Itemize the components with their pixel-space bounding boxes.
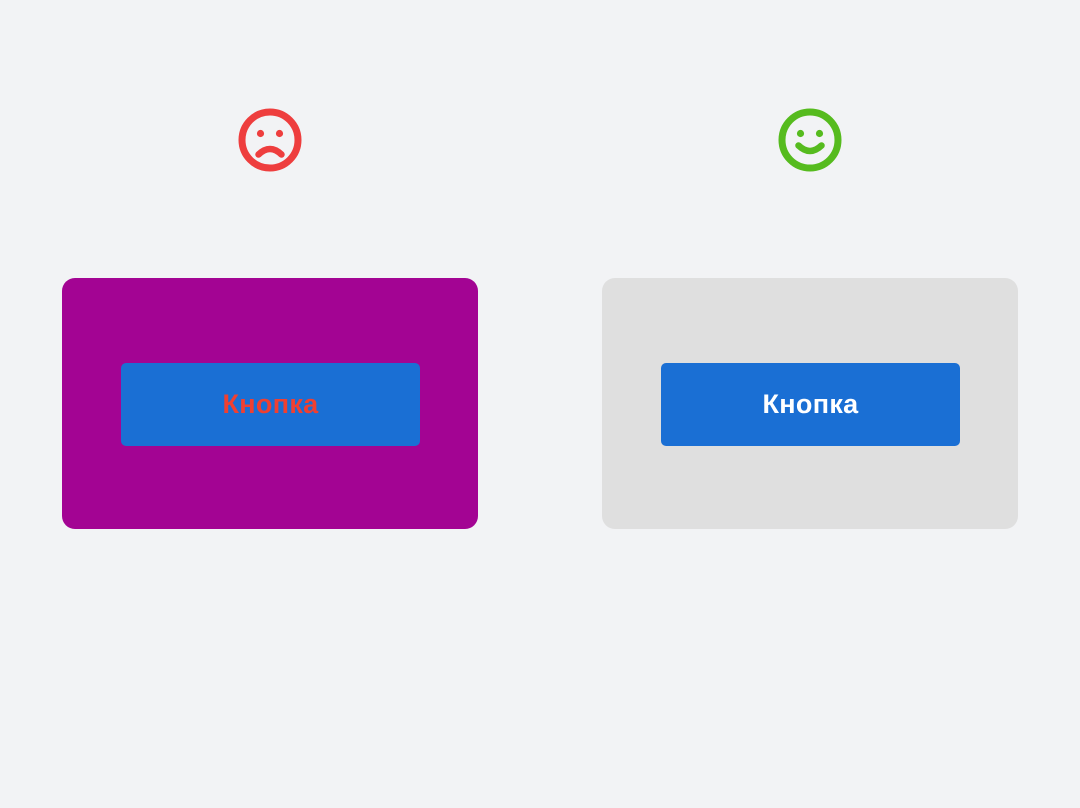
card-magenta: Кнопка bbox=[62, 278, 478, 529]
contrast-comparison-stage: Кнопка Кнопка bbox=[0, 0, 1080, 808]
sad-face-icon bbox=[237, 107, 303, 173]
happy-face-icon bbox=[777, 107, 843, 173]
button-low-contrast[interactable]: Кнопка bbox=[121, 363, 420, 446]
card-gray: Кнопка bbox=[602, 278, 1018, 529]
button-high-contrast[interactable]: Кнопка bbox=[661, 363, 960, 446]
